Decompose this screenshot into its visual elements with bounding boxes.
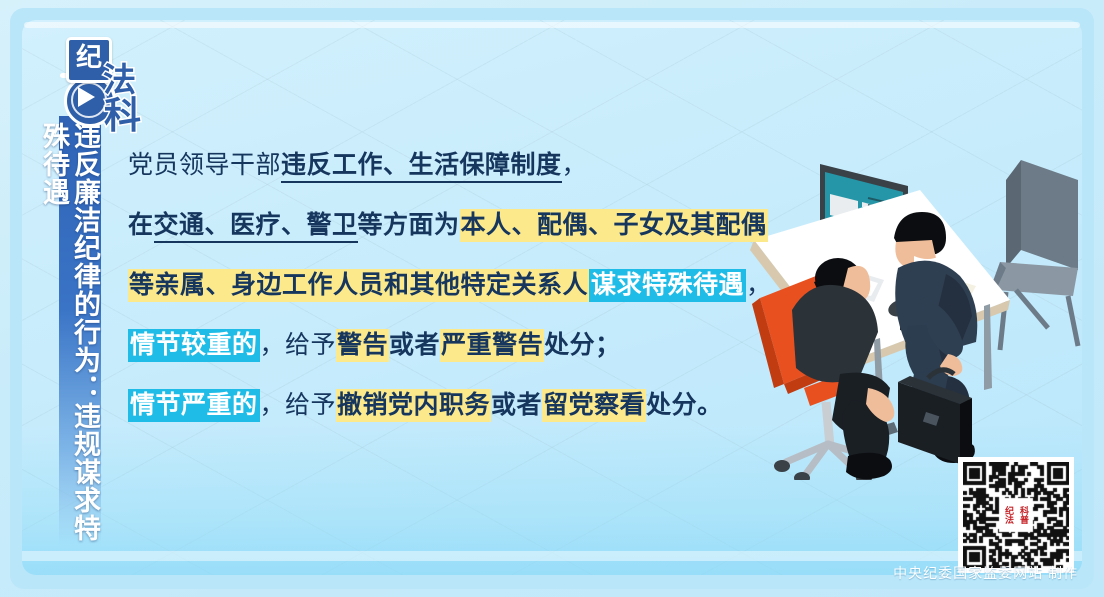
line3-plain-b: ，: [746, 272, 772, 299]
line5-plain-a: ，给予: [260, 392, 337, 419]
vertical-banner-text: 违反廉洁纪律的行为：违规谋求特殊待遇: [60, 122, 100, 542]
logo-char-ke: 科: [104, 85, 141, 139]
line4-highlight-cyan: 情节较重的: [128, 329, 260, 362]
line3-highlight-cyan: 谋求特殊待遇: [589, 269, 746, 302]
line4-plain-c: 处分；: [544, 332, 621, 359]
line4-highlight-yellow-a: 警告: [336, 329, 389, 362]
floor-strip: [22, 551, 1082, 561]
line4-highlight-yellow-b: 严重警告: [440, 329, 544, 362]
line5-plain-b: 或者: [491, 392, 542, 419]
line2-highlight-yellow: 本人、配偶、子女及其配偶: [460, 209, 768, 242]
poster-canvas: 违反廉洁纪律的行为：违规谋求特殊待遇 纪 法 科 党员领导干部违反工作、生活保障…: [0, 0, 1104, 597]
text-line-2: 在交通、医疗、警卫等方面为本人、配偶、子女及其配偶: [128, 196, 828, 256]
text-line-4: 情节较重的，给予警告或者严重警告处分；: [128, 316, 828, 376]
line5-highlight-yellow-b: 留党察看: [542, 389, 646, 422]
line5-highlight-cyan: 情节严重的: [128, 389, 260, 422]
line1-plain-a: 党员领导干部: [128, 152, 281, 179]
brand-logo: 纪 法 科: [54, 33, 150, 125]
line5-plain-c: 处分。: [646, 392, 723, 419]
panel-top-highlight: [24, 22, 1080, 28]
grey-chair: [992, 160, 1078, 350]
text-line-1: 党员领导干部违反工作、生活保障制度，: [128, 136, 828, 196]
qr-code[interactable]: 纪法 科普: [958, 457, 1074, 573]
line5-highlight-yellow-a: 撤销党内职务: [336, 389, 491, 422]
play-ring-icon: [71, 82, 107, 118]
line2-plain-a: 在: [128, 212, 154, 241]
line4-plain-a: ，给予: [260, 332, 337, 359]
qr-center-label-2: 科普: [1017, 507, 1032, 525]
text-line-3: 等亲属、身边工作人员和其他特定关系人谋求特殊待遇，: [128, 256, 828, 316]
line1-plain-b: ，: [562, 152, 588, 179]
line2-plain-b: 等方面为: [358, 212, 460, 241]
qr-center-logo: 纪法 科普: [1002, 501, 1032, 531]
regulation-text-block: 党员领导干部违反工作、生活保障制度， 在交通、医疗、警卫等方面为本人、配偶、子女…: [128, 136, 828, 436]
text-line-5: 情节严重的，给予撤销党内职务或者留党察看处分。: [128, 376, 828, 436]
line1-underline: 违反工作、生活保障制度: [281, 152, 562, 183]
footer-credit: 中央纪委国家监委网站 制作: [893, 563, 1078, 583]
line4-plain-b: 或者: [389, 332, 440, 359]
qr-center-label-1: 纪法: [1002, 507, 1017, 525]
line2-underline: 交通、医疗、警卫: [154, 212, 358, 243]
line3-highlight-yellow: 等亲属、身边工作人员和其他特定关系人: [128, 269, 589, 302]
